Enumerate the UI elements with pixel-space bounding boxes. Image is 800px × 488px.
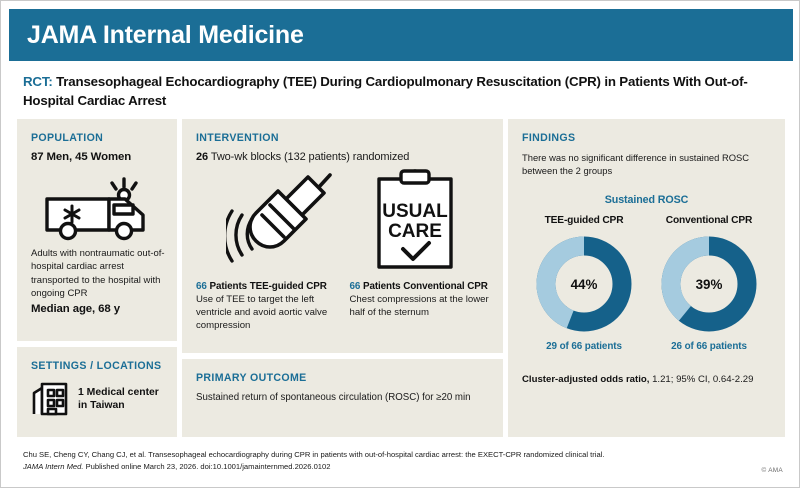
donut-conventional: Conventional CPR 39% 26 of 66 patients bbox=[649, 215, 769, 352]
intervention-blocks-number: 26 bbox=[196, 151, 208, 163]
donut-tee-label: TEE-guided CPR bbox=[524, 215, 644, 226]
citation-doi: Published online March 23, 2026. doi:10.… bbox=[84, 462, 331, 471]
primary-outcome-card: PRIMARY OUTCOME Sustained return of spon… bbox=[182, 359, 503, 437]
citation-line-1: Chu SE, Cheng CY, Chang CJ, et al. Trans… bbox=[23, 449, 743, 461]
clipboard-line2: CARE bbox=[388, 221, 442, 242]
findings-lede: There was no significant difference in s… bbox=[522, 151, 774, 177]
odds-ratio-line: Cluster-adjusted odds ratio, 1.21; 95% C… bbox=[522, 374, 771, 386]
population-description: Adults with nontraumatic out-of-hospital… bbox=[31, 247, 165, 301]
findings-heading: FINDINGS bbox=[522, 132, 771, 144]
donut-tee-guided: TEE-guided CPR 44% 29 of 66 patients bbox=[524, 215, 644, 352]
settings-heading: SETTINGS / LOCATIONS bbox=[31, 360, 165, 372]
chart-title: Sustained ROSC bbox=[522, 194, 771, 206]
page-title: RCT: Transesophageal Echocardiography (T… bbox=[23, 73, 783, 111]
intervention-arm-tee: 66 Patients TEE-guided CPR Use of TEE to… bbox=[196, 281, 336, 333]
arm-tee-heading: 66 Patients TEE-guided CPR bbox=[196, 281, 336, 293]
arm-tee-number: 66 bbox=[196, 281, 207, 292]
settings-row: 1 Medical center in Taiwan bbox=[31, 381, 165, 417]
donut-conventional-svg: 39% bbox=[657, 232, 761, 336]
settings-text: 1 Medical center in Taiwan bbox=[78, 386, 165, 413]
odds-ratio-label: Cluster-adjusted odds ratio, bbox=[522, 374, 649, 385]
population-card: POPULATION 87 Men, 45 Women bbox=[17, 119, 177, 341]
clipboard-line1: USUAL bbox=[382, 201, 448, 222]
hospital-building-icon bbox=[31, 381, 69, 417]
study-type-label: RCT: bbox=[23, 74, 53, 89]
odds-ratio-value: 1.21; 95% CI, 0.64-2.29 bbox=[652, 374, 753, 385]
journal-masthead: JAMA Internal Medicine bbox=[9, 9, 793, 61]
intervention-icons: USUAL CARE bbox=[196, 165, 489, 277]
donut-conventional-percent: 39% bbox=[696, 277, 723, 292]
card-grid: POPULATION 87 Men, 45 Women bbox=[9, 119, 793, 437]
settings-card: SETTINGS / LOCATIONS 1 Medical center in… bbox=[17, 347, 177, 437]
citation-journal: JAMA Intern Med. bbox=[23, 462, 84, 471]
primary-outcome-heading: PRIMARY OUTCOME bbox=[196, 372, 489, 384]
arm-conventional-label: Patients Conventional CPR bbox=[363, 281, 488, 292]
findings-card: FINDINGS There was no significant differ… bbox=[508, 119, 785, 437]
population-median-age: Median age, 68 y bbox=[31, 303, 165, 315]
ambulance-icon bbox=[31, 169, 165, 247]
arm-tee-description: Use of TEE to target the left ventricle … bbox=[196, 294, 336, 333]
donut-chart-group: TEE-guided CPR 44% 29 of 66 patients Con… bbox=[522, 215, 771, 352]
donut-tee-percent: 44% bbox=[571, 277, 598, 292]
population-heading: POPULATION bbox=[31, 132, 165, 144]
citation-line-2: JAMA Intern Med. Published online March … bbox=[23, 461, 743, 473]
arm-conventional-heading: 66 Patients Conventional CPR bbox=[350, 281, 490, 293]
donut-tee-caption: 29 of 66 patients bbox=[524, 341, 644, 352]
intervention-card: INTERVENTION 26 Two-wk blocks (132 patie… bbox=[182, 119, 503, 353]
article-title-text: Transesophageal Echocardiography (TEE) D… bbox=[23, 74, 748, 108]
copyright-notice: © AMA bbox=[762, 467, 783, 474]
intervention-arms: 66 Patients TEE-guided CPR Use of TEE to… bbox=[196, 281, 489, 333]
donut-tee-svg: 44% bbox=[532, 232, 636, 336]
donut-conventional-caption: 26 of 66 patients bbox=[649, 341, 769, 352]
clipboard-usual-care-icon: USUAL CARE bbox=[371, 169, 459, 273]
arm-conventional-number: 66 bbox=[350, 281, 361, 292]
arm-conventional-description: Chest compressions at the lower half of … bbox=[350, 294, 490, 320]
intervention-arm-conventional: 66 Patients Conventional CPR Chest compr… bbox=[350, 281, 490, 333]
donut-conventional-label: Conventional CPR bbox=[649, 215, 769, 226]
arm-tee-label: Patients TEE-guided CPR bbox=[209, 281, 326, 292]
visual-abstract-poster: JAMA Internal Medicine RCT: Transesophag… bbox=[0, 0, 800, 488]
intervention-heading: INTERVENTION bbox=[196, 132, 489, 144]
population-counts: 87 Men, 45 Women bbox=[31, 151, 165, 163]
primary-outcome-text: Sustained return of spontaneous circulat… bbox=[196, 391, 489, 405]
citation-footer: Chu SE, Cheng CY, Chang CJ, et al. Trans… bbox=[23, 449, 743, 473]
article-title-block: RCT: Transesophageal Echocardiography (T… bbox=[23, 73, 783, 111]
intervention-blocks: 26 Two-wk blocks (132 patients) randomiz… bbox=[196, 151, 489, 163]
ultrasound-probe-icon bbox=[226, 169, 338, 273]
journal-title: JAMA Internal Medicine bbox=[9, 23, 304, 48]
intervention-blocks-text: Two-wk blocks (132 patients) randomized bbox=[211, 151, 409, 163]
